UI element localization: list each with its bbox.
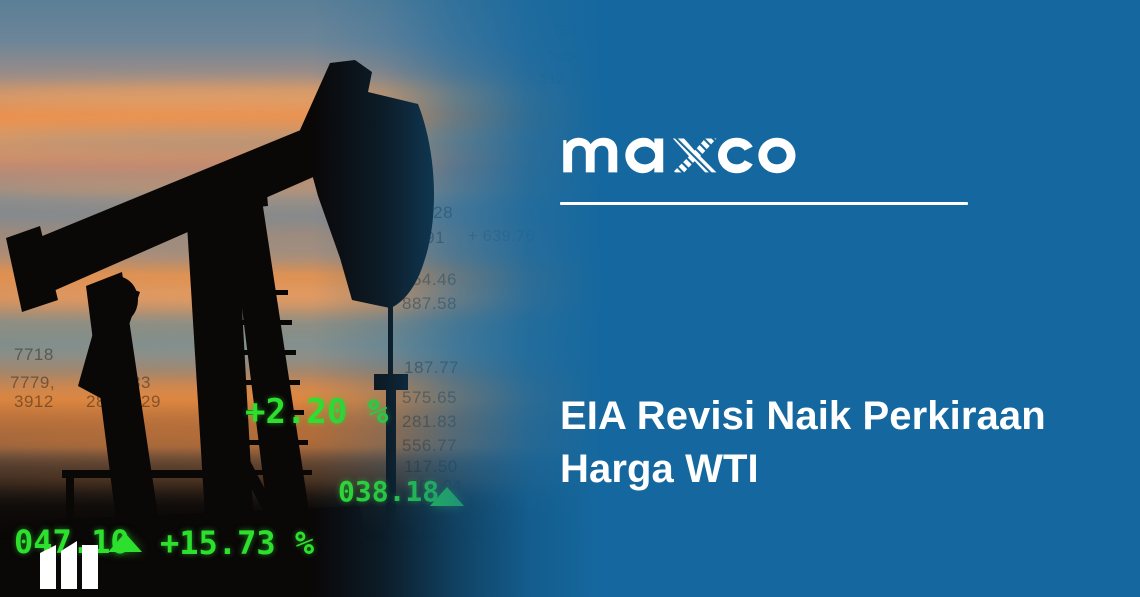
- maxco-logo[interactable]: [560, 124, 834, 174]
- bar-chart-logo-icon: [38, 539, 100, 589]
- brand-divider: [560, 202, 968, 205]
- photo-to-panel-fade: [0, 0, 600, 597]
- maxco-x-glyph: [673, 139, 717, 173]
- news-banner: 77187779,7631.33391228422.2956.2850.91+ …: [0, 0, 1140, 597]
- hero-photo: 77187779,7631.33391228422.2956.2850.91+ …: [0, 0, 600, 597]
- brand-panel: [600, 0, 1140, 597]
- headline-line-2: Harga WTI: [560, 443, 1080, 496]
- page-title: EIA Revisi Naik Perkiraan Harga WTI: [560, 390, 1080, 496]
- headline-line-1: EIA Revisi Naik Perkiraan: [560, 390, 1080, 443]
